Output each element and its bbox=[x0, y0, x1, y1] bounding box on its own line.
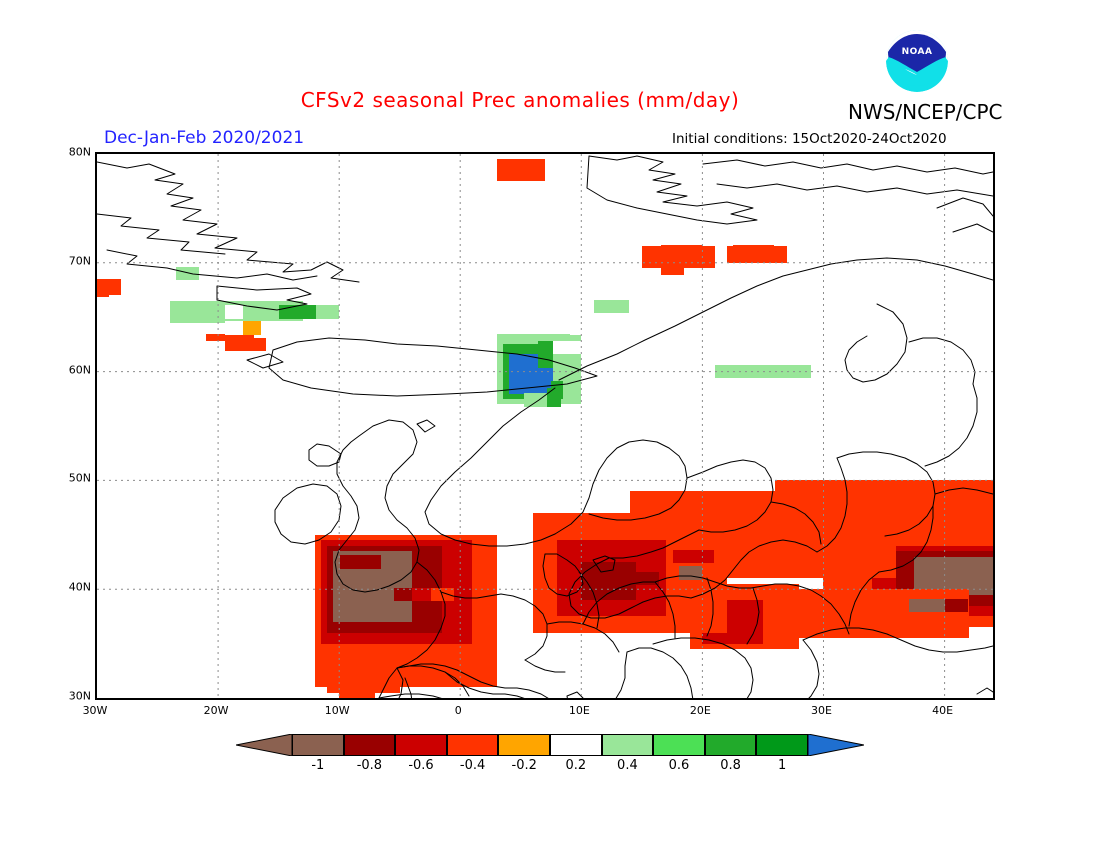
y-axis-tick-80N: 80N bbox=[69, 146, 91, 159]
svg-text:NOAA: NOAA bbox=[902, 47, 933, 57]
y-axis-tick-60N: 60N bbox=[69, 363, 91, 376]
colorbar-label: -1 bbox=[311, 758, 324, 773]
colorbar-label: 0.6 bbox=[669, 758, 690, 773]
x-axis-tick-40E: 40E bbox=[932, 704, 953, 717]
map-gridlines bbox=[97, 154, 993, 698]
y-axis-tick-40N: 40N bbox=[69, 581, 91, 594]
y-axis-tick-70N: 70N bbox=[69, 254, 91, 267]
colorbar-label: 0.8 bbox=[720, 758, 741, 773]
colorbar-label: -0.8 bbox=[357, 758, 382, 773]
colorbar-label: 1 bbox=[778, 758, 786, 773]
colorbar-label: -0.4 bbox=[460, 758, 485, 773]
y-axis-tick-50N: 50N bbox=[69, 472, 91, 485]
x-axis-tick-10E: 10E bbox=[569, 704, 590, 717]
map-plot-area bbox=[95, 152, 995, 700]
y-axis-labels: 80N70N60N50N40N30N bbox=[46, 152, 91, 700]
x-axis-labels: 30W20W10W010E20E30E40E bbox=[95, 704, 995, 724]
colorbar-label: -0.2 bbox=[512, 758, 537, 773]
colorbar-label: 0.4 bbox=[617, 758, 638, 773]
x-axis-tick-20W: 20W bbox=[204, 704, 229, 717]
x-axis-tick-30E: 30E bbox=[811, 704, 832, 717]
noaa-logo: NOAA bbox=[884, 28, 950, 94]
colorbar-tick-labels: -1-0.8-0.6-0.4-0.20.20.40.60.81 bbox=[236, 734, 864, 778]
colorbar: -1-0.8-0.6-0.4-0.20.20.40.60.81 bbox=[236, 734, 864, 778]
colorbar-label: 0.2 bbox=[565, 758, 586, 773]
chart-title: CFSv2 seasonal Prec anomalies (mm/day) bbox=[0, 88, 1040, 112]
x-axis-tick-20E: 20E bbox=[690, 704, 711, 717]
x-axis-tick-10W: 10W bbox=[325, 704, 350, 717]
x-axis-tick-30W: 30W bbox=[83, 704, 108, 717]
colorbar-label: -0.6 bbox=[408, 758, 433, 773]
initial-conditions-label: Initial conditions: 15Oct2020-24Oct2020 bbox=[672, 131, 947, 147]
y-axis-tick-30N: 30N bbox=[69, 690, 91, 703]
x-axis-tick-0: 0 bbox=[455, 704, 462, 717]
season-label: Dec-Jan-Feb 2020/2021 bbox=[104, 128, 304, 148]
